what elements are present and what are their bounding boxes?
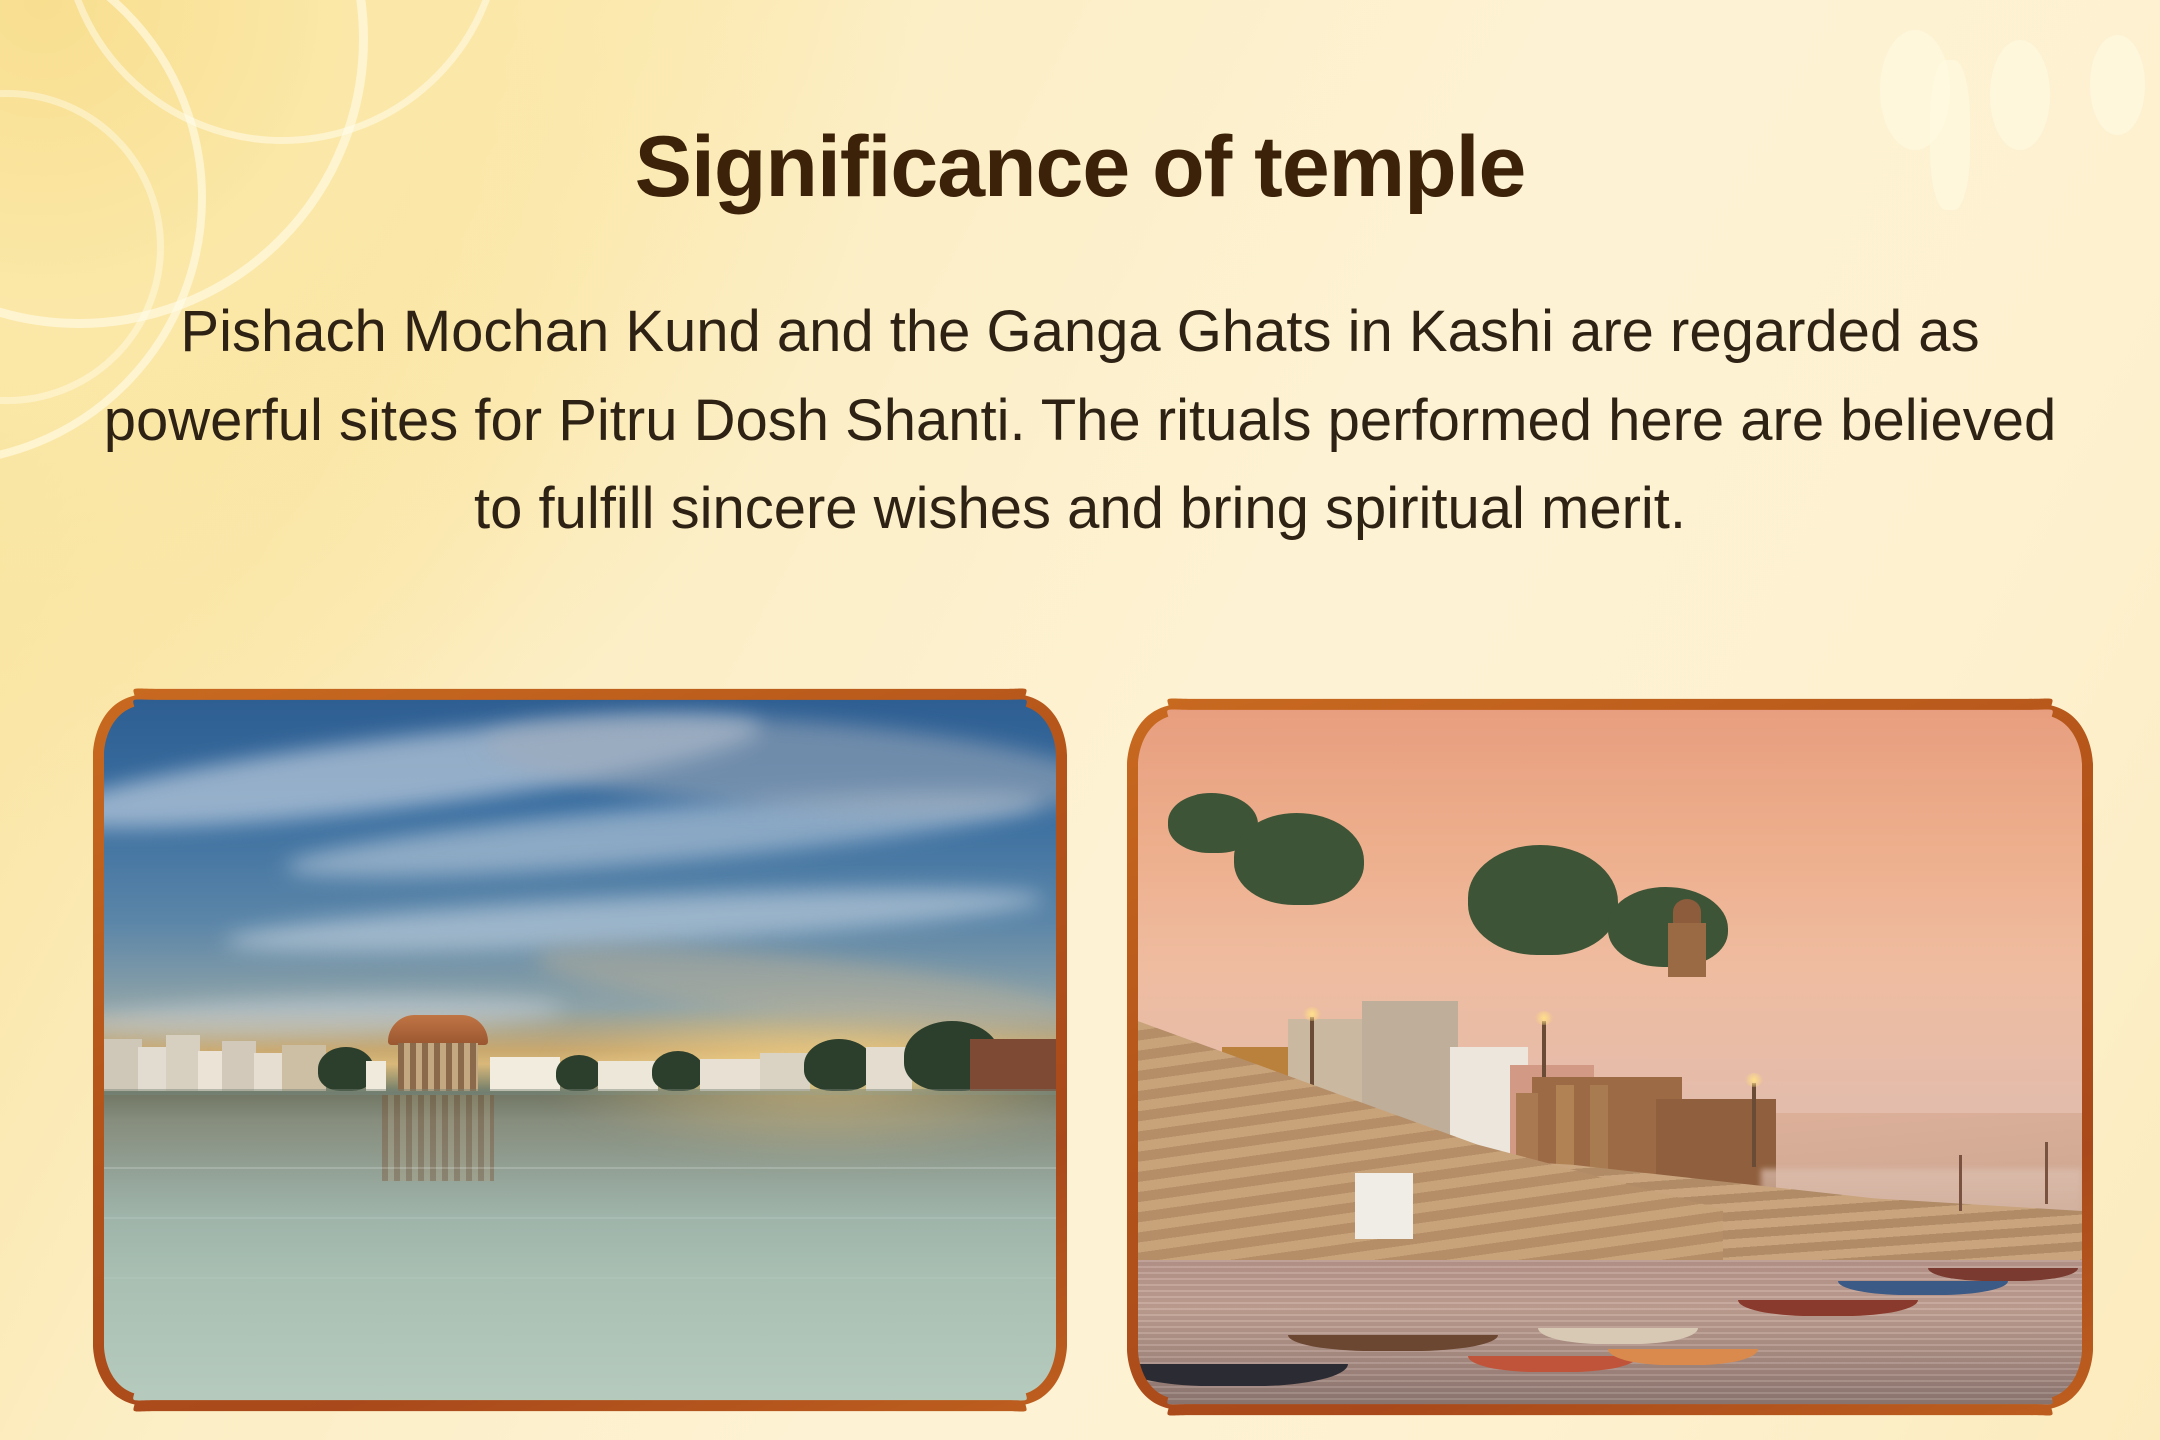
water-ripple	[104, 1277, 1056, 1279]
pavilion-columns	[398, 1043, 478, 1091]
ganga-ghats-photo	[1138, 707, 2082, 1407]
pavilion-dome	[388, 1015, 488, 1045]
image-frame-right-inner	[1138, 707, 2082, 1407]
page-title: Significance of temple	[0, 118, 2160, 217]
body-paragraph: Pishach Mochan Kund and the Ganga Ghats …	[96, 288, 2064, 554]
flag-pole-icon	[1959, 1155, 1962, 1211]
flag-pole-icon	[2045, 1142, 2048, 1204]
pavilion-chhatri	[382, 1015, 494, 1091]
slide-canvas: Significance of temple Pishach Mochan Ku…	[0, 0, 2160, 1440]
water-ripple	[104, 1217, 1056, 1219]
pishach-mochan-kund-photo	[104, 697, 1056, 1403]
image-frame-left-inner	[104, 697, 1056, 1403]
image-frame-right	[1127, 696, 2093, 1418]
water-reflection	[104, 1095, 1056, 1215]
water-ripple	[104, 1167, 1056, 1169]
image-frame-left	[93, 686, 1067, 1414]
street-lamp-icon	[1752, 1083, 1756, 1167]
kund-skyline	[104, 1027, 1056, 1091]
ghat-temple-block	[1516, 945, 1837, 1197]
white-kiosk	[1355, 1173, 1413, 1239]
